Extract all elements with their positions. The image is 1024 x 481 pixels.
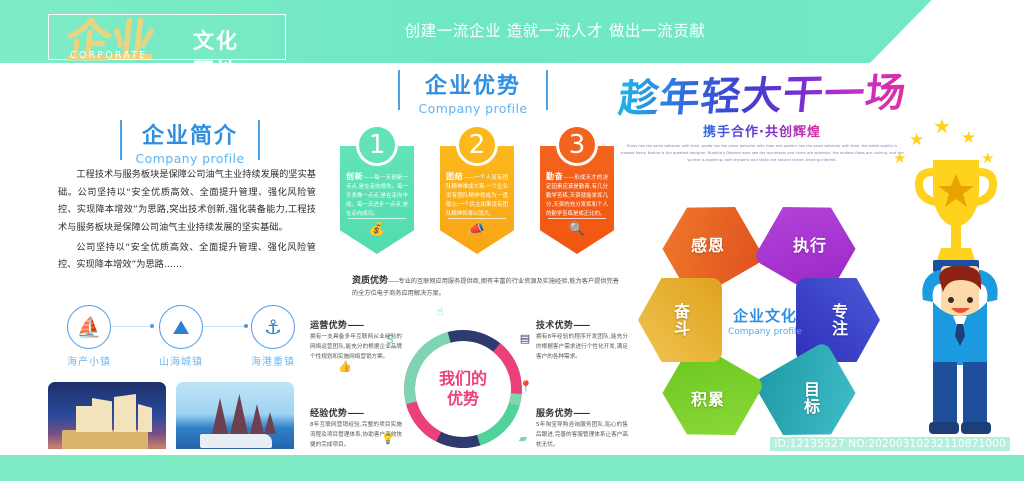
hero-calligraphy: 趁年轻大干一场 <box>616 73 908 119</box>
advantage-experience-title: 经验优势—— <box>310 406 402 419</box>
star-icon-5: ★ <box>981 151 994 166</box>
hero-block: 趁年轻大干一场 携手合作·共创辉煌 Grass has the same beh… <box>612 76 912 163</box>
sailing-ship-icon: ⛵ <box>67 305 111 349</box>
qualification-dash: —— <box>388 278 398 285</box>
bottom-banner <box>0 455 1024 481</box>
town-label-1: 山海城镇 <box>138 353 224 368</box>
service-card-icon: ▰ <box>515 430 531 446</box>
star-icon-2: ★ <box>909 132 924 149</box>
petal-accumulation-label: 积累 <box>691 386 725 410</box>
heading-bar-left <box>120 120 122 160</box>
advantage-operation: 运营优势—— 拥有一支具备多年互联网从业经验的网络运营团队,能充分的根据企业品牌… <box>310 318 402 362</box>
advantage-technology: 技术优势—— 拥有8年经验的程序开发团队,能充分的根据客户需求进行个性化开发,满… <box>536 318 628 362</box>
town-label-0: 海产小镇 <box>46 353 132 368</box>
hexagon-center: 企业文化 Company profile <box>717 305 813 337</box>
banner-rule-1 <box>348 218 406 219</box>
advantage-operation-text: 拥有一支具备多年互联网从业经验的网络运营团队,能充分的根据企业品牌个性规划和实施… <box>310 333 402 362</box>
company-profile-title-en: Company profile <box>120 151 260 166</box>
advantages-title-en: Company profile <box>398 101 548 116</box>
culture-hexagon: 感恩 执行 专注 目标 积累 奋斗 企业文化 Company profile <box>640 196 890 446</box>
hand-click-icon: ☝ <box>432 303 448 319</box>
banner-text-2: 团结——一个人没有团队精神难成大事;一个企业没有团队精神将成为一盘散沙;一个民主… <box>446 170 508 219</box>
petal-focus-label: 专注 <box>826 303 850 337</box>
town-glyph-0: ⛵ <box>68 306 110 348</box>
harbor-crane-icon: ⚓ <box>251 305 295 349</box>
advantages-heading: 企业优势 Company profile <box>398 68 548 116</box>
advantage-service: 服务优势—— 5年淘宝导购咨询服务团队,贴心的售后跟进,完善的客服管理体系让客户… <box>536 406 628 450</box>
banner-text-3: 勤奋——形成天才的决定因素应该是勤奋,有几分勤学苦练,天资就能发挥几分,天资的充… <box>546 170 608 219</box>
money-bag-icon: 💰 <box>369 222 385 237</box>
profile-paragraph-1: 工程技术与服务板块是保障公司油气主业持续发展的坚实基础。公司坚持以“安全优质高效… <box>58 166 316 237</box>
ring-center-label: 我们的 优势 <box>439 369 487 409</box>
advantage-technology-title: 技术优势—— <box>536 318 628 331</box>
town-item-0[interactable]: ⛵ 海产小镇 <box>46 305 132 368</box>
advantage-service-title: 服务优势—— <box>536 406 628 419</box>
advantage-operation-title: 运营优势—— <box>310 318 402 331</box>
advantage-experience: 经验优势—— 8年互联网营销经验,完整的项目实施流程及项目管理体系,协助客户高效… <box>310 406 402 450</box>
corporate-logo: 企业 CORPORATE 文化园地 <box>48 14 248 62</box>
ring-center-line1: 我们的 <box>439 369 487 389</box>
pin-icon: 📍 <box>518 378 534 394</box>
trophy-and-man-svg <box>905 150 1015 440</box>
header-slogan: 创建一流企业 造就一流人才 做出一流贡献 <box>345 19 765 41</box>
petal-goal-label: 目标 <box>798 381 822 415</box>
adv-heading-bar-right <box>546 70 548 110</box>
banner-number-2: 2 <box>456 124 498 166</box>
banner-title-1: 创新 <box>346 172 363 181</box>
company-profile-title-cn: 企业简介 <box>120 118 260 150</box>
banner-title-3: 勤奋 <box>546 172 563 181</box>
logo-english-text: CORPORATE <box>70 50 148 61</box>
logo-subtitle: 文化园地 <box>193 25 248 85</box>
town-item-2[interactable]: ⚓ 海港重镇 <box>230 305 316 368</box>
hero-english-text: Grass has the same behavior with time, g… <box>612 143 912 163</box>
petal-struggle[interactable]: 奋斗 <box>638 278 722 362</box>
qualification-note: 资质优势——专业的互联网应用服务提供商,拥有丰富的行业资源及实施经验,能为客户提… <box>352 274 620 300</box>
banner-desc-3: ——形成天才的决定因素应该是勤奋,有几分勤学苦练,天资就能发挥几分,天资的充分发… <box>546 175 608 217</box>
logo-chinese-text: 企业 <box>63 5 158 71</box>
adv-heading-bar-left <box>398 70 400 110</box>
town-glyph-1: ⛰ <box>160 306 202 348</box>
star-icon-1: ★ <box>933 116 951 136</box>
company-profile-heading: 企业简介 Company profile <box>120 118 260 166</box>
advantage-experience-text: 8年互联网营销经验,完整的项目实施流程及项目管理体系,协助客户高效快捷的完成项目… <box>310 421 402 450</box>
qualification-title: 资质优势 <box>352 276 388 286</box>
hexagon-center-cn: 企业文化 <box>717 305 813 326</box>
star-icon-4: ★ <box>893 151 906 166</box>
banner-title-2: 团结 <box>446 172 463 181</box>
banner-desc-1: ——每一天创新一点点,是在走向领先。每一天多做一点点,是在走向丰收。每一天进步一… <box>346 175 408 217</box>
banner-number-3: 3 <box>556 124 598 166</box>
banner-desc-2: ——一个人没有团队精神难成大事;一个企业没有团队精神将成为一盘散沙;一个民主如果… <box>446 175 508 217</box>
banner-rule-3 <box>548 218 606 219</box>
presentation-board-icon: ▤ <box>517 330 533 346</box>
megaphone-icon: 📣 <box>469 222 485 237</box>
magnifier-icon: 🔍 <box>569 222 585 237</box>
petal-execution-label: 执行 <box>793 232 827 256</box>
petal-gratitude-label: 感恩 <box>691 232 725 256</box>
businessman-with-trophy: ★ ★ ★ ★ ★ <box>905 150 1015 440</box>
hero-subtitle: 携手合作·共创辉煌 <box>703 121 821 140</box>
town-label-2: 海港重镇 <box>230 353 316 368</box>
petal-struggle-label: 奋斗 <box>668 303 692 337</box>
banner-rule-2 <box>448 218 506 219</box>
town-item-1[interactable]: ⛰ 山海城镇 <box>138 305 224 368</box>
advantage-technology-text: 拥有8年经验的程序开发团队,能充分的根据客户需求进行个性化开发,满足客户的各种需… <box>536 333 628 362</box>
town-glyph-2: ⚓ <box>252 306 294 348</box>
company-profile-body: 工程技术与服务板块是保障公司油气主业持续发展的坚实基础。公司坚持以“安全优质高效… <box>58 166 316 274</box>
image-id-text: ID:12135527 NO:20200310232110871000 <box>770 437 1010 451</box>
banner-text-1: 创新——每一天创新一点点,是在走向领先。每一天多做一点点,是在走向丰收。每一天进… <box>346 170 408 219</box>
hexagon-center-en: Company profile <box>717 327 813 337</box>
bottom-white-strip <box>0 449 760 455</box>
ring-center-line2: 优势 <box>439 389 487 409</box>
advantages-ring: 我们的 优势 <box>404 330 522 448</box>
poster-canvas: 企业 CORPORATE 文化园地 创建一流企业 造就一流人才 做出一流贡献 企… <box>0 0 1024 481</box>
profile-paragraph-2: 公司坚持以“安全优质高效、全面提升管理、强化风险管控、实现降本增效”为思路…… <box>58 239 316 274</box>
advantages-title-cn: 企业优势 <box>398 68 548 100</box>
town-icon-row: ⛵ 海产小镇 ⛰ 山海城镇 ⚓ 海港重镇 <box>46 305 316 367</box>
heading-bar-right <box>258 120 260 160</box>
mountain-sea-icon: ⛰ <box>159 305 203 349</box>
star-icon-3: ★ <box>961 130 976 147</box>
advantage-service-text: 5年淘宝导购咨询服务团队,贴心的售后跟进,完善的客服管理体系让客户高枕无忧。 <box>536 421 628 450</box>
banner-number-1: 1 <box>356 124 398 166</box>
